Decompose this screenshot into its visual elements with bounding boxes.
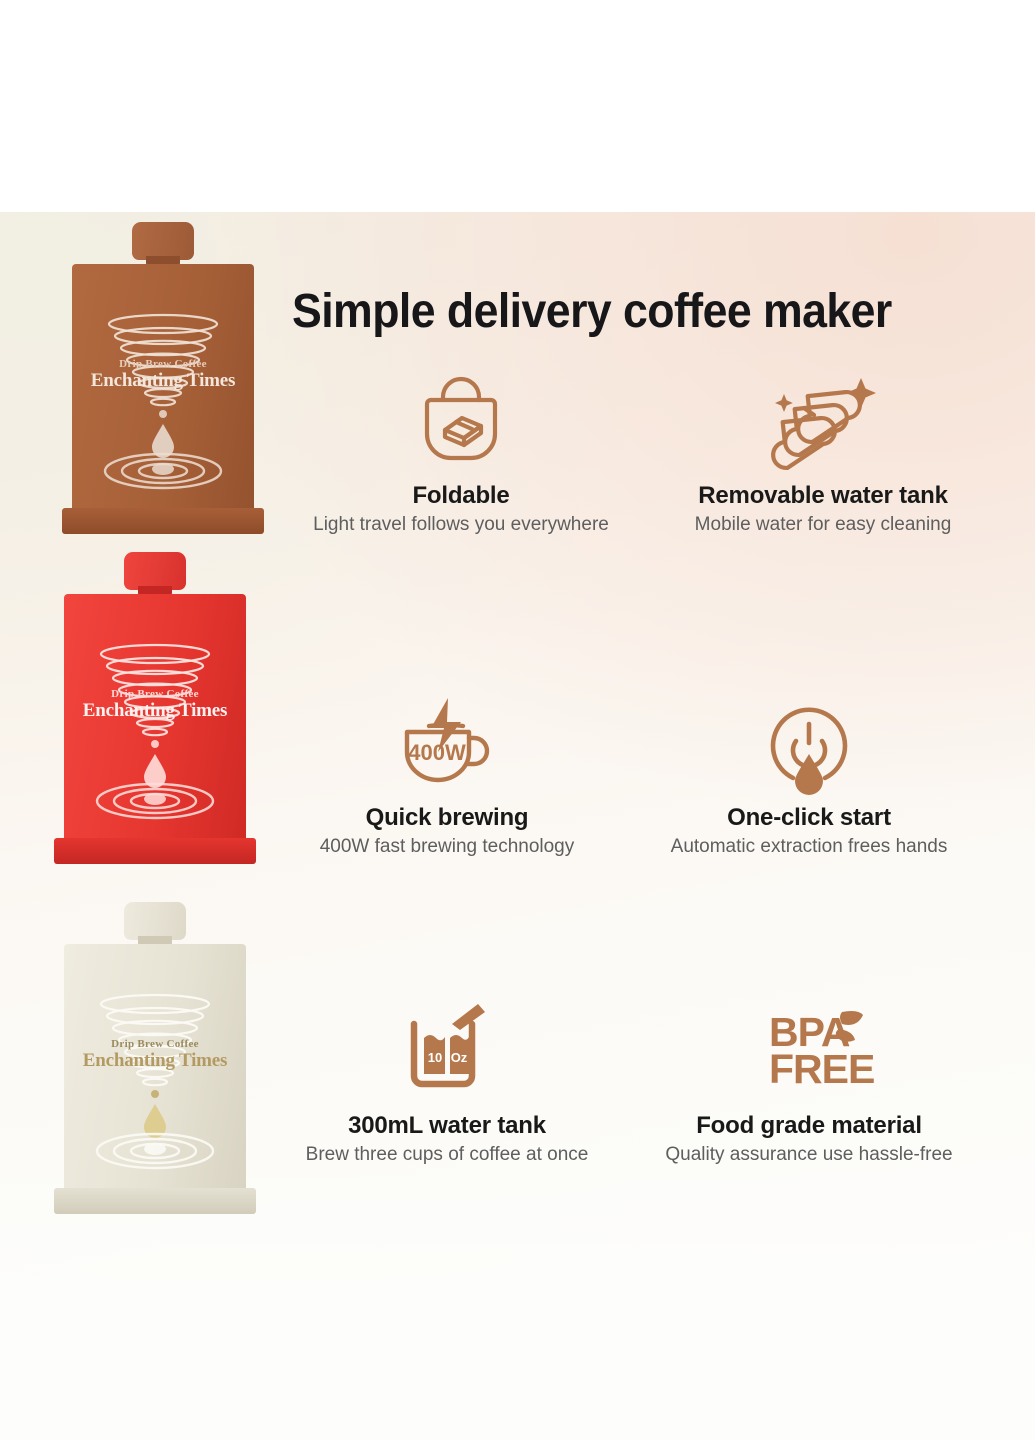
coffee-cup-lightning-icon: 400W <box>391 694 503 794</box>
product-lid <box>124 552 186 590</box>
feature-title: Removable water tank <box>658 482 988 510</box>
cup-label-unit: Oz <box>451 1050 468 1065</box>
feature-description: Brew three cups of coffee at once <box>282 1143 612 1167</box>
bpa-free-leaf-icon: BPA FREE <box>747 1002 871 1102</box>
product-infographic: Drip Brew Coffee Enchanting Times <box>0 0 1035 1440</box>
feature-one-click-start: One-click start Automatic extraction fre… <box>644 684 974 859</box>
handbag-folded-icon <box>409 372 513 472</box>
product-lid <box>132 222 194 260</box>
product-image-cream: Drip Brew Coffee Enchanting Times <box>30 902 280 1232</box>
product-artwork: Drip Brew Coffee Enchanting Times <box>64 594 246 842</box>
top-white-band <box>0 0 1035 212</box>
feature-removable-water-tank: Removable water tank Mobile water for ea… <box>658 362 988 537</box>
product-model-line: Enchanting Times <box>64 700 246 722</box>
product-body: Drip Brew Coffee Enchanting Times <box>64 594 246 842</box>
feature-title: One-click start <box>644 804 974 832</box>
page-title: Simple delivery coffee maker <box>292 283 971 341</box>
product-brand-line: Drip Brew Coffee <box>64 688 246 700</box>
product-artwork: Drip Brew Coffee Enchanting Times <box>72 264 254 512</box>
product-gallery: Drip Brew Coffee Enchanting Times <box>0 212 292 1292</box>
product-model-line: Enchanting Times <box>64 1050 246 1072</box>
product-base <box>54 1188 256 1214</box>
cup-label-volume: 10 <box>428 1050 442 1065</box>
product-base <box>62 508 264 534</box>
product-artwork: Drip Brew Coffee Enchanting Times <box>64 944 246 1192</box>
feature-title: Food grade material <box>644 1112 974 1140</box>
feature-description: Automatic extraction frees hands <box>644 835 974 859</box>
product-brand-line: Drip Brew Coffee <box>72 358 254 370</box>
feature-title: Quick brewing <box>282 804 612 832</box>
feature-title: Foldable <box>296 482 626 510</box>
product-lid <box>124 902 186 940</box>
feature-food-grade-material: BPA FREE Food grade material Quality ass… <box>644 992 974 1167</box>
product-image-brown: Drip Brew Coffee Enchanting Times <box>38 222 288 552</box>
measuring-cups-straw-icon: 10 Oz <box>394 1002 500 1102</box>
feature-description: Mobile water for easy cleaning <box>658 513 988 537</box>
product-body: Drip Brew Coffee Enchanting Times <box>64 944 246 1192</box>
power-badge: 400W <box>408 740 466 765</box>
bpa-line-2: FREE <box>769 1046 874 1092</box>
feature-description: Quality assurance use hassle-free <box>644 1143 974 1167</box>
product-base <box>54 838 256 864</box>
product-brand-line: Drip Brew Coffee <box>64 1038 246 1050</box>
feature-description: 400W fast brewing technology <box>282 835 612 859</box>
feature-grid: Foldable Light travel follows you everyw… <box>292 362 1022 1232</box>
feature-quick-brewing: 400W Quick brewing 400W fast brewing tec… <box>282 684 612 859</box>
feature-description: Light travel follows you everywhere <box>296 513 626 537</box>
feature-water-tank-capacity: 10 Oz 300mL water tank Brew three cups o… <box>282 992 612 1167</box>
power-button-droplet-icon <box>758 694 860 794</box>
feature-title: 300mL water tank <box>282 1112 612 1140</box>
stacked-tanks-sparkle-icon <box>764 372 882 472</box>
product-body: Drip Brew Coffee Enchanting Times <box>72 264 254 512</box>
product-image-red: Drip Brew Coffee Enchanting Times <box>30 552 280 882</box>
feature-foldable: Foldable Light travel follows you everyw… <box>296 362 626 537</box>
product-model-line: Enchanting Times <box>72 370 254 392</box>
